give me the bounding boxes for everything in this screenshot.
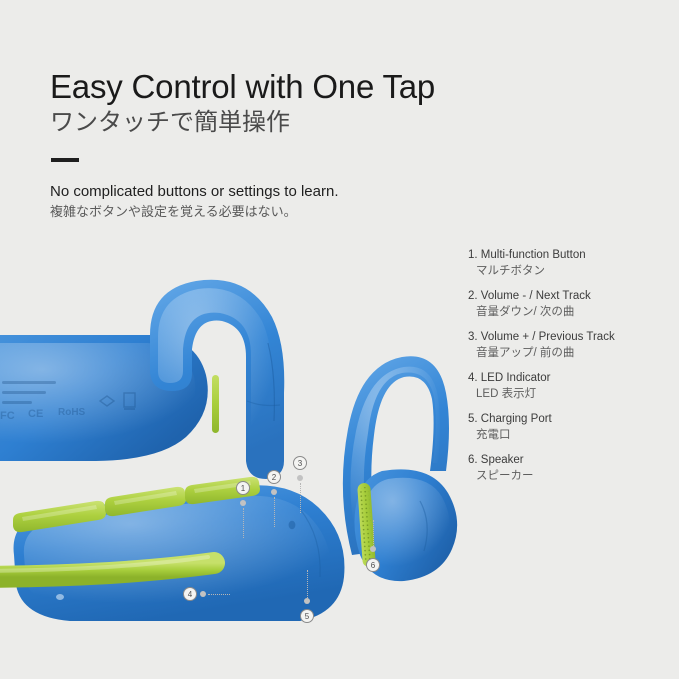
legend-item-volume-up: 3. Volume + / Previous Track 音量アップ/ 前の曲 [468, 330, 673, 361]
callout-marker-4: 4 [183, 587, 197, 601]
legend-item-multi-function-button: 1. Multi-function Button マルチボタン [468, 248, 673, 279]
callout-leader-4 [208, 594, 230, 595]
legend-label-jp: スピーカー [468, 468, 673, 484]
callout-dot-3 [297, 475, 303, 481]
callout-dot-2 [271, 489, 277, 495]
callout-marker-2: 2 [267, 470, 281, 484]
product-illustration: FC CE RoHS [0, 225, 470, 645]
callout-leader-3 [300, 483, 301, 513]
legend-label-jp: LED 表示灯 [468, 386, 673, 402]
legend-label-en: 4. LED Indicator [468, 371, 673, 386]
infographic-canvas: Easy Control with One Tap ワンタッチで簡単操作 No … [0, 0, 679, 679]
legend-label-en: 5. Charging Port [468, 412, 673, 427]
legend-item-led-indicator: 4. LED Indicator LED 表示灯 [468, 371, 673, 402]
callout-marker-5: 5 [300, 609, 314, 623]
callout-marker-6: 6 [366, 558, 380, 572]
title-divider [51, 158, 79, 162]
page-title-japanese: ワンタッチで簡単操作 [50, 108, 290, 138]
legend-item-speaker: 6. Speaker スピーカー [468, 453, 673, 484]
charging-port [289, 521, 296, 529]
callout-leader-2 [274, 497, 275, 527]
legend-item-volume-down: 2. Volume - / Next Track 音量ダウン/ 次の曲 [468, 289, 673, 320]
subtitle-japanese: 複雑なボタンや設定を覚える必要はない。 [50, 203, 297, 221]
legend-label-en: 2. Volume - / Next Track [468, 289, 673, 304]
legend-label-en: 1. Multi-function Button [468, 248, 673, 263]
callout-leader-5 [307, 570, 308, 598]
legend-item-charging-port: 5. Charging Port 充電口 [468, 412, 673, 443]
left-ear-hook [150, 280, 284, 479]
hook-green-strip [212, 375, 219, 433]
legend-label-en: 3. Volume + / Previous Track [468, 330, 673, 345]
callout-marker-1: 1 [236, 481, 250, 495]
callout-dot-1 [240, 500, 246, 506]
svg-text:FC: FC [0, 410, 15, 422]
led-indicator [56, 594, 64, 600]
feature-legend: 1. Multi-function Button マルチボタン 2. Volum… [468, 248, 673, 494]
callout-leader-1 [243, 508, 244, 538]
legend-label-jp: 音量アップ/ 前の曲 [468, 345, 673, 361]
callout-dot-4 [200, 591, 206, 597]
page-title: Easy Control with One Tap [50, 68, 435, 106]
legend-label-jp: マルチボタン [468, 263, 673, 279]
svg-text:CE: CE [28, 408, 43, 420]
svg-text:RoHS: RoHS [58, 407, 86, 418]
legend-label-en: 6. Speaker [468, 453, 673, 468]
callout-marker-3: 3 [293, 456, 307, 470]
legend-label-jp: 充電口 [468, 427, 673, 443]
legend-label-jp: 音量ダウン/ 次の曲 [468, 304, 673, 320]
subtitle: No complicated buttons or settings to le… [50, 182, 339, 202]
callout-dot-5 [304, 598, 310, 604]
callout-dot-6 [370, 546, 376, 552]
callout-leader-6 [373, 520, 374, 546]
